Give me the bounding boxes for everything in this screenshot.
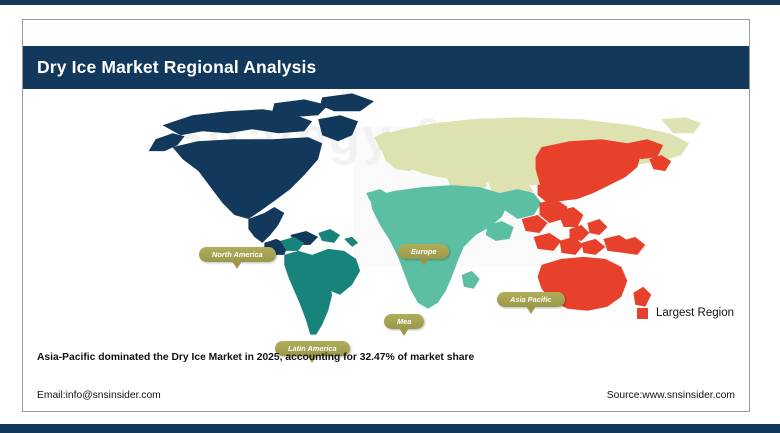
region-mea[interactable] [366, 185, 542, 309]
bottom-accent-strip [0, 424, 780, 433]
legend-swatch-icon [637, 308, 648, 319]
map-label-asia-pacific[interactable]: Asia Pacific [497, 292, 565, 307]
legend: Largest Region [637, 307, 734, 319]
footer-email[interactable]: Email:info@snsinsider.com [37, 390, 161, 401]
region-latin-america[interactable] [280, 229, 360, 335]
page-title: Dry Ice Market Regional Analysis [23, 57, 316, 78]
footer-source[interactable]: Source:www.snsinsider.com [607, 390, 735, 401]
header-bar: Dry Ice Market Regional Analysis [23, 46, 749, 89]
world-map-svg [23, 89, 749, 337]
region-asia-pacific[interactable] [522, 139, 672, 311]
legend-label: Largest Region [656, 307, 734, 319]
region-north-america[interactable] [149, 93, 374, 255]
map-label-north-america[interactable]: North America [199, 247, 276, 262]
caption-text: Asia-Pacific dominated the Dry Ice Marke… [37, 352, 474, 363]
footer: Email:info@snsinsider.com Source:www.sns… [23, 390, 749, 401]
infographic-page: Dry Ice Market Regional Analysis Strateg… [0, 0, 780, 433]
world-map-container: Strategy & Stats [23, 89, 749, 337]
map-label-europe[interactable]: Europe [398, 244, 449, 259]
map-label-mea[interactable]: Mea [384, 314, 424, 329]
top-accent-strip [0, 0, 780, 5]
content-card: Dry Ice Market Regional Analysis Strateg… [22, 19, 750, 412]
